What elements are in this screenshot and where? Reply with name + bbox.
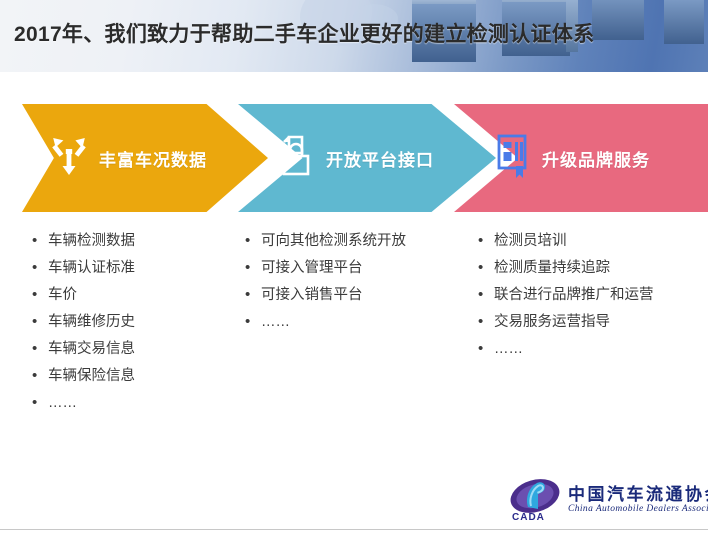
chevron-label-3: 升级品牌服务 bbox=[542, 146, 650, 171]
list-item: • 车价 bbox=[32, 286, 232, 304]
list-item-label: …… bbox=[48, 394, 77, 412]
list-item-label: 车辆维修历史 bbox=[48, 313, 135, 331]
bullet-marker: • bbox=[245, 313, 261, 331]
list-item: • 车辆保险信息 bbox=[32, 367, 232, 385]
bullet-marker: • bbox=[32, 259, 48, 277]
bullet-column-1: • 车辆检测数据 • 车辆认证标准 • 车价 • 车辆维修历史 • 车辆交易信息… bbox=[32, 232, 232, 421]
bullet-marker: • bbox=[478, 232, 494, 250]
bullet-marker: • bbox=[245, 259, 261, 277]
svg-text:CADA: CADA bbox=[512, 512, 545, 522]
bullet-marker: • bbox=[32, 394, 48, 412]
slide-bottom-divider bbox=[0, 529, 708, 530]
chevron-label-1: 丰富车况数据 bbox=[99, 146, 207, 171]
list-item-label: 检测员培训 bbox=[494, 232, 567, 250]
certificate-icon bbox=[496, 133, 530, 184]
bullet-marker: • bbox=[478, 286, 494, 304]
list-item-label: 可接入销售平台 bbox=[261, 286, 363, 304]
list-item: • 车辆维修历史 bbox=[32, 313, 232, 331]
list-item-label: 交易服务运营指导 bbox=[494, 313, 610, 331]
branching-arrow-icon bbox=[52, 136, 86, 181]
cube-decoration-4 bbox=[664, 0, 708, 52]
list-item: • …… bbox=[32, 394, 232, 412]
bullet-column-3: • 检测员培训 • 检测质量持续追踪 • 联合进行品牌推广和运营 • 交易服务运… bbox=[478, 232, 704, 367]
list-item-label: 车辆交易信息 bbox=[48, 340, 135, 358]
list-item-label: 车辆认证标准 bbox=[48, 259, 135, 277]
cube-decoration-3 bbox=[592, 0, 654, 52]
list-item: • …… bbox=[245, 313, 465, 331]
list-item: • …… bbox=[478, 340, 704, 358]
list-item: • 车辆检测数据 bbox=[32, 232, 232, 250]
bullet-marker: • bbox=[478, 259, 494, 277]
bullet-marker: • bbox=[32, 367, 48, 385]
list-item-label: 车价 bbox=[48, 286, 77, 304]
list-item-label: 检测质量持续追踪 bbox=[494, 259, 610, 277]
content-columns: • 车辆检测数据 • 车辆认证标准 • 车价 • 车辆维修历史 • 车辆交易信息… bbox=[0, 232, 708, 442]
list-item: • 车辆交易信息 bbox=[32, 340, 232, 358]
bullet-marker: • bbox=[245, 232, 261, 250]
bullet-marker: • bbox=[32, 313, 48, 331]
organization-logo: CADA 中国汽车流通协会 China Automobile Dealers A… bbox=[508, 476, 704, 526]
list-item: • 可接入管理平台 bbox=[245, 259, 465, 277]
bullet-marker: • bbox=[32, 286, 48, 304]
slide-title: 2017年、我们致力于帮助二手车企业更好的建立检测认证体系 bbox=[14, 18, 594, 48]
slide-header-banner: 2017年、我们致力于帮助二手车企业更好的建立检测认证体系 bbox=[0, 0, 708, 72]
list-item: • 联合进行品牌推广和运营 bbox=[478, 286, 704, 304]
cada-emblem-icon: CADA bbox=[508, 476, 566, 522]
list-item: • 检测员培训 bbox=[478, 232, 704, 250]
chevron-step-1[interactable]: 丰富车况数据 bbox=[22, 104, 268, 212]
chevron-step-3[interactable]: 升级品牌服务 bbox=[454, 104, 708, 212]
list-item-label: 联合进行品牌推广和运营 bbox=[494, 286, 654, 304]
list-item: • 检测质量持续追踪 bbox=[478, 259, 704, 277]
list-item: • 车辆认证标准 bbox=[32, 259, 232, 277]
presentation-slide: 2017年、我们致力于帮助二手车企业更好的建立检测认证体系 bbox=[0, 0, 708, 536]
bullet-marker: • bbox=[32, 340, 48, 358]
bullet-marker: • bbox=[478, 313, 494, 331]
list-item-label: 车辆检测数据 bbox=[48, 232, 135, 250]
process-chevron-band: 丰富车况数据 开放平台接口 bbox=[0, 104, 708, 212]
bullet-marker: • bbox=[32, 232, 48, 250]
list-item: • 交易服务运营指导 bbox=[478, 313, 704, 331]
document-lock-icon bbox=[280, 134, 312, 183]
list-item: • 可接入销售平台 bbox=[245, 286, 465, 304]
chevron-label-2: 开放平台接口 bbox=[326, 146, 434, 171]
bullet-marker: • bbox=[478, 340, 494, 358]
logo-name-english: China Automobile Dealers Association bbox=[568, 504, 708, 514]
list-item-label: 车辆保险信息 bbox=[48, 367, 135, 385]
list-item-label: …… bbox=[261, 313, 290, 331]
list-item-label: 可向其他检测系统开放 bbox=[261, 232, 406, 250]
bullet-marker: • bbox=[245, 286, 261, 304]
list-item-label: 可接入管理平台 bbox=[261, 259, 363, 277]
list-item-label: …… bbox=[494, 340, 523, 358]
bullet-column-2: • 可向其他检测系统开放 • 可接入管理平台 • 可接入销售平台 • …… bbox=[245, 232, 465, 340]
logo-name-chinese: 中国汽车流通协会 bbox=[568, 480, 708, 505]
list-item: • 可向其他检测系统开放 bbox=[245, 232, 465, 250]
